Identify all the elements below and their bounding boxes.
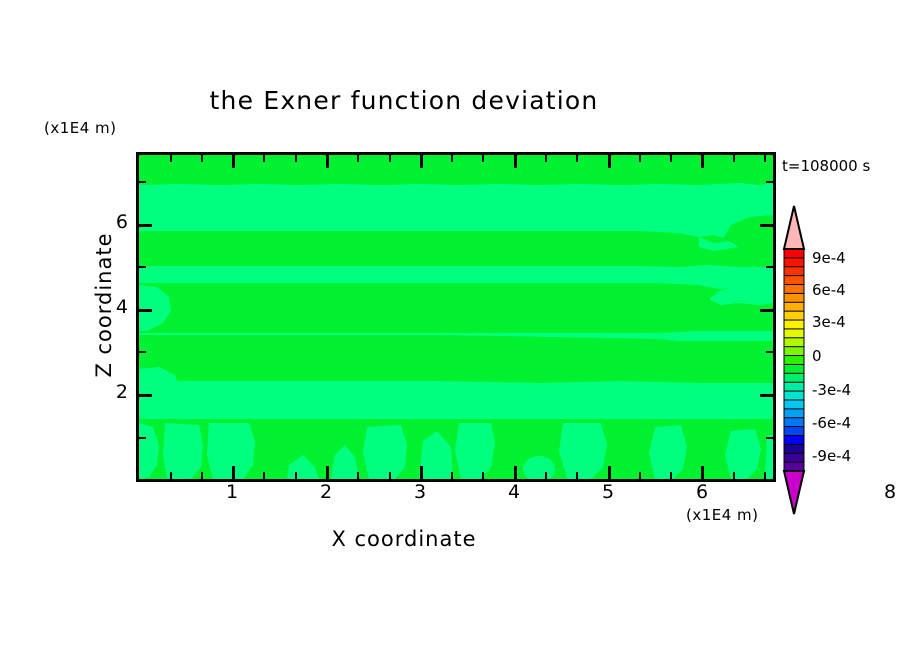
x-tick-label: 1 — [212, 481, 252, 503]
colorbar-under-arrow — [784, 471, 804, 514]
x-tick-major-top — [232, 155, 235, 168]
y-tick-minor — [139, 266, 146, 268]
colorbar-tick-label: 0 — [812, 347, 822, 365]
x-tick-label: 6 — [682, 481, 722, 503]
colorbar-tick-label: 3e-4 — [812, 313, 846, 331]
colorbar-band — [784, 293, 804, 302]
page-title: the Exner function deviation — [0, 86, 856, 115]
time-annotation: t=108000 s — [782, 157, 870, 175]
x-tick-minor — [170, 472, 172, 479]
contour-plot-figure: the Exner function deviation (x1E4 m) — [0, 0, 904, 654]
x-tick-minor-top — [170, 155, 172, 162]
x-tick-minor — [201, 472, 203, 479]
colorbar-band — [784, 427, 804, 436]
x-tick-minor-top — [639, 155, 641, 162]
colorbar-band — [784, 400, 804, 409]
x-tick-minor — [482, 472, 484, 479]
colorbar-band — [784, 382, 804, 391]
y-tick-minor-right — [766, 351, 773, 353]
x-tick-major-top — [326, 155, 329, 168]
x-tick-label: 3 — [400, 481, 440, 503]
colorbar-band — [784, 435, 804, 444]
y-axis-title: Z coordinate — [92, 140, 116, 470]
colorbar-band — [784, 276, 804, 285]
colorbar-tick-label: 6e-4 — [812, 281, 846, 299]
colorbar-band — [784, 409, 804, 418]
x-tick-minor-top — [451, 155, 453, 162]
x-tick-minor — [639, 472, 641, 479]
x-tick-minor — [295, 472, 297, 479]
y-tick-minor-right — [766, 437, 773, 439]
x-tick-minor-top — [764, 155, 766, 162]
colorbar-band — [784, 444, 804, 453]
x-tick-major — [420, 466, 423, 479]
x-tick-major — [326, 466, 329, 479]
x-tick-minor — [545, 472, 547, 479]
colorbar-band — [784, 258, 804, 267]
x-tick-minor — [764, 472, 766, 479]
x-tick-minor-top — [670, 155, 672, 162]
x-tick-minor-top — [389, 155, 391, 162]
colorbar-band — [784, 338, 804, 347]
x-tick-minor-top — [482, 155, 484, 162]
x-tick-major — [701, 466, 704, 479]
colorbar-band — [784, 347, 804, 356]
colorbar-band — [784, 285, 804, 294]
x-tick-minor-top — [263, 155, 265, 162]
x-tick-major-top — [608, 155, 611, 168]
y-tick-major-right — [760, 224, 773, 227]
x-tick-minor — [451, 472, 453, 479]
y-tick-major-right — [760, 394, 773, 397]
y-tick-minor-right — [766, 266, 773, 268]
x-tick-minor-top — [357, 155, 359, 162]
y-tick-major — [139, 224, 152, 227]
colorbar-band — [784, 320, 804, 329]
colorbar-swatches — [782, 205, 806, 515]
colorbar — [782, 205, 806, 515]
x-tick-minor — [389, 472, 391, 479]
colorbar-tick-label: 9e-4 — [812, 249, 846, 267]
x-tick-major — [232, 466, 235, 479]
x-tick-minor-top — [545, 155, 547, 162]
y-tick-minor — [139, 480, 146, 482]
colorbar-band — [784, 267, 804, 276]
y-tick-major — [139, 309, 152, 312]
colorbar-band — [784, 418, 804, 427]
colorbar-over-arrow — [784, 206, 804, 249]
x-tick-major — [514, 466, 517, 479]
x-tick-minor-top — [295, 155, 297, 162]
x-tick-minor — [733, 472, 735, 479]
x-tick-minor-top — [201, 155, 203, 162]
colorbar-band — [784, 373, 804, 382]
contour-field — [139, 155, 773, 479]
colorbar-tick-label: -6e-4 — [812, 414, 851, 432]
x-tick-minor-top — [576, 155, 578, 162]
y-axis-units-label: (x1E4 m) — [44, 119, 117, 137]
y-tick-minor — [139, 437, 146, 439]
colorbar-tick-label: -9e-4 — [812, 447, 851, 465]
x-tick-minor — [576, 472, 578, 479]
x-tick-major-top — [701, 155, 704, 168]
x-tick-minor — [670, 472, 672, 479]
colorbar-band — [784, 329, 804, 338]
x-tick-label: 8 — [870, 481, 904, 503]
x-tick-major-top — [420, 155, 423, 168]
plot-area — [136, 152, 776, 482]
colorbar-tick-label: -3e-4 — [812, 381, 851, 399]
colorbar-band — [784, 391, 804, 400]
colorbar-band — [784, 364, 804, 373]
y-tick-minor-right — [766, 181, 773, 183]
colorbar-band — [784, 249, 804, 258]
y-tick-major — [139, 394, 152, 397]
x-tick-label: 4 — [494, 481, 534, 503]
x-tick-minor — [357, 472, 359, 479]
x-tick-major-top — [514, 155, 517, 168]
colorbar-band — [784, 302, 804, 311]
colorbar-band — [784, 311, 804, 320]
x-tick-minor-top — [733, 155, 735, 162]
colorbar-band — [784, 356, 804, 365]
x-tick-label: 5 — [588, 481, 628, 503]
x-axis-title: X coordinate — [0, 527, 856, 551]
y-tick-minor — [139, 181, 146, 183]
y-tick-major-right — [760, 309, 773, 312]
x-tick-label: 2 — [306, 481, 346, 503]
x-tick-major — [608, 466, 611, 479]
x-tick-minor — [263, 472, 265, 479]
colorbar-band — [784, 453, 804, 462]
x-axis-units-label: (x1E4 m) — [686, 506, 759, 524]
y-tick-minor — [139, 351, 146, 353]
